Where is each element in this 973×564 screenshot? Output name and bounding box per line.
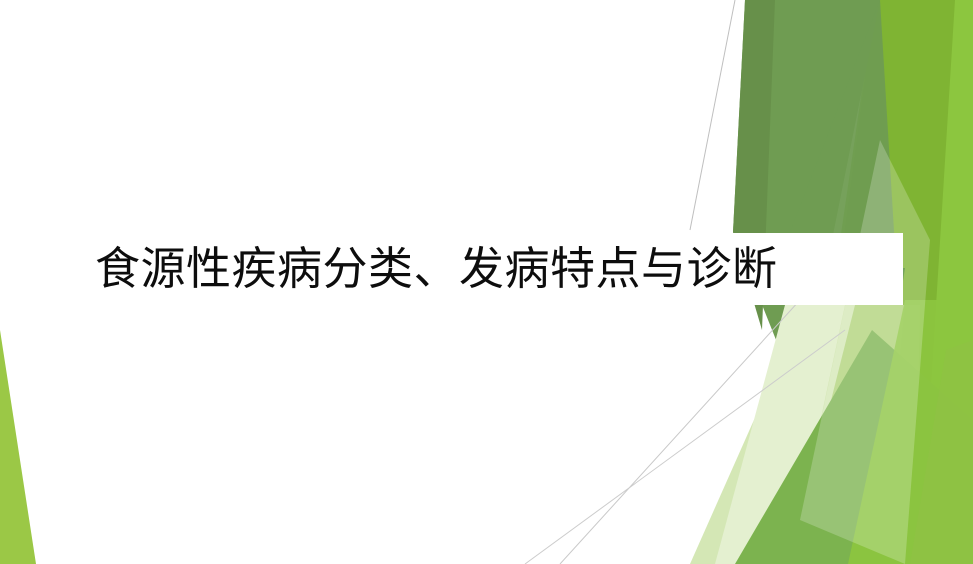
- shape-light-overlay-cross: [800, 140, 930, 564]
- shape-very-pale-triangle: [715, 305, 845, 564]
- hairline-diagonal-upper: [690, 0, 735, 230]
- page-title: 食源性疾病分类、发病特点与诊断: [95, 233, 895, 305]
- shape-soft-green-mid-band: [790, 305, 920, 564]
- hairline-diagonal-long: [525, 330, 845, 564]
- shape-left-lime-triangle: [0, 330, 36, 564]
- shape-mid-green-lower-right: [735, 330, 973, 564]
- shape-right-outer-band: [905, 0, 973, 564]
- shape-yellow-green-bottom-right: [910, 340, 973, 564]
- hairline-diagonal-lower: [560, 300, 800, 564]
- shape-medium-green-triangle: [733, 0, 880, 400]
- shape-pale-green-large: [690, 305, 905, 564]
- shape-bright-green-bottom-right: [848, 300, 973, 564]
- presentation-slide: 食源性疾病分类、发病特点与诊断: [0, 0, 973, 564]
